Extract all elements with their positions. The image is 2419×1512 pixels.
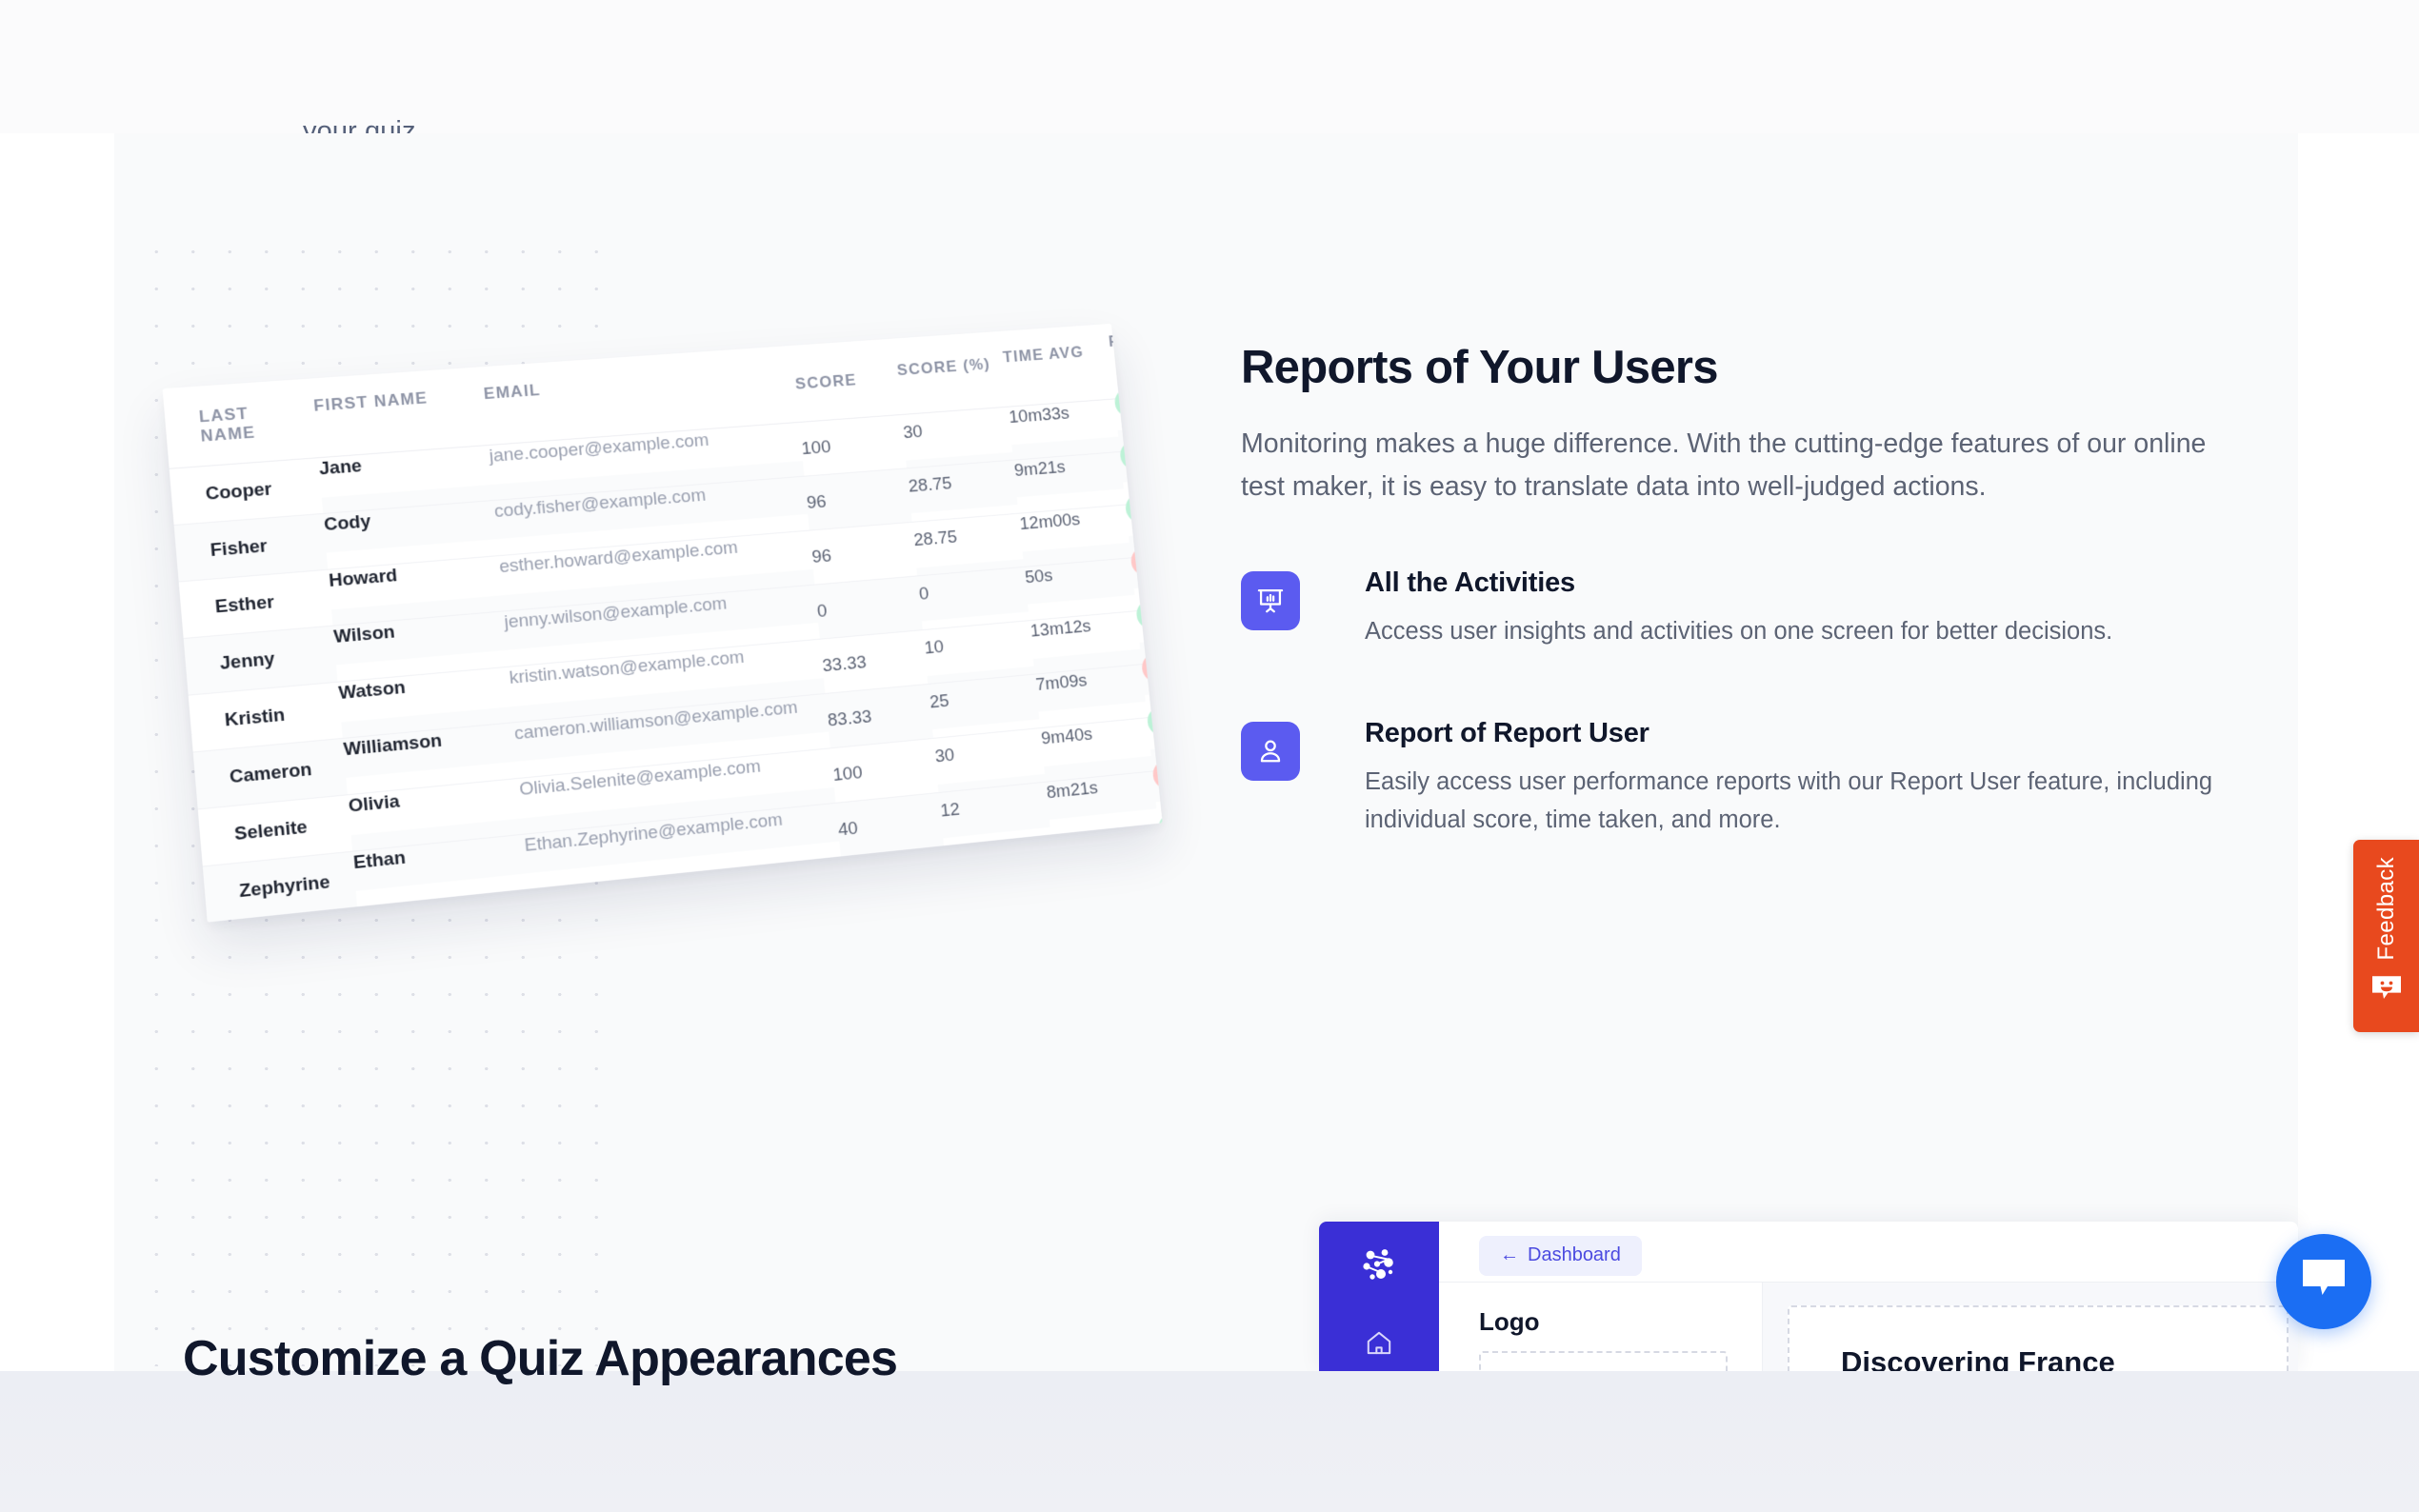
builder-canvas-pane: Discovering France (1763, 1283, 2298, 1371)
builder-sidebar: Quiz (1319, 1222, 1439, 1371)
feedback-tab-button[interactable]: Feedback (2353, 840, 2419, 1032)
cell-score: 100 (799, 414, 907, 476)
logo-field-label: Logo (1479, 1307, 1540, 1337)
feature-all-the-activities: All the Activities Access user insights … (1241, 567, 2250, 659)
cell-time-avg: 13m01s (1050, 809, 1162, 874)
cell-score-pct: 15 (949, 882, 1061, 923)
home-icon (1364, 1328, 1394, 1363)
presentation-chart-icon (1241, 571, 1300, 630)
cell-score: 83.33 (825, 684, 933, 747)
cell-score: 50 (847, 902, 955, 923)
cell-time-avg: 50s (1023, 542, 1135, 605)
next-section-band (0, 1371, 2419, 1512)
builder-main: ←Dashboard Logo Discovering France (1439, 1222, 2298, 1371)
cell-time-avg: 9m21s (1011, 436, 1124, 498)
page-root: your quiz. LAST NAME FIRST NAME EMAIL SC… (0, 0, 2419, 1512)
page-title: Reports of Your Users (1241, 341, 2250, 394)
cell-time-avg: 13m12s (1028, 595, 1140, 658)
feature-title: Report of Report User (1365, 718, 2250, 749)
report-table: LAST NAME FIRST NAME EMAIL SCORE SCORE (… (163, 324, 1163, 923)
cell-score-pct: 0 (916, 559, 1029, 622)
feature-report-of-report-user: Report of Report User Easily access user… (1241, 718, 2250, 839)
sidebar-item-quiz[interactable]: Quiz (1363, 1328, 1396, 1371)
chat-bubble-icon (2298, 1256, 2349, 1308)
builder-topbar: ←Dashboard (1439, 1222, 2298, 1283)
reports-copy-column: Reports of Your Users Monitoring makes a… (1241, 341, 2250, 839)
user-icon (1241, 722, 1300, 781)
back-to-dashboard-button[interactable]: ←Dashboard (1479, 1236, 1642, 1276)
logo-dropzone[interactable] (1479, 1351, 1728, 1371)
feature-description: Access user insights and activities on o… (1365, 613, 2250, 650)
status-badge: Passed (1119, 436, 1163, 470)
cell-score-pct: 28.75 (906, 451, 1017, 513)
report-table-illustration: LAST NAME FIRST NAME EMAIL SCORE SCORE (… (195, 352, 1157, 962)
cell-score: 33.33 (820, 630, 928, 694)
cell-score-pct: 28.75 (911, 506, 1024, 568)
section-paragraph: Monitoring makes a huge difference. With… (1241, 423, 2208, 508)
cell-score: 0 (814, 576, 922, 639)
cell-score-pct: 20 (943, 827, 1055, 893)
table-body: CooperJanejane.cooper@example.com1003010… (170, 390, 1163, 922)
builder-settings-pane: Logo (1439, 1283, 1763, 1371)
chat-bubble-button[interactable] (2276, 1234, 2371, 1329)
quiz-title-text: Discovering France (1841, 1345, 2115, 1371)
cell-score: 96 (804, 468, 911, 530)
cell-score: 96 (810, 522, 917, 585)
cell-score: 40 (835, 792, 944, 857)
cell-score: 66.66 (841, 847, 950, 913)
feature-description: Easily access user performance reports w… (1365, 764, 2250, 839)
cell-role: Passed (1112, 368, 1163, 429)
feature-title: All the Activities (1365, 567, 2250, 599)
feedback-label: Feedback (2373, 857, 2400, 961)
col-score: SCORE (791, 339, 901, 423)
cell-time-avg: 11m43s (1055, 863, 1163, 922)
report-table-card: LAST NAME FIRST NAME EMAIL SCORE SCORE (… (163, 324, 1163, 923)
network-dots-icon (1357, 1246, 1401, 1288)
status-badge: Passed (1125, 488, 1163, 524)
cell-time-avg: 10m33s (1007, 384, 1119, 445)
left-gutter (0, 133, 114, 1371)
cell-score-pct: 30 (901, 399, 1012, 461)
next-section-title: Customize a Quiz Appearances (183, 1330, 897, 1387)
quiz-builder-preview: Quiz ←Dashboard Logo Discovering France (1319, 1222, 2298, 1371)
col-last-name: LAST NAME (163, 378, 319, 468)
cell-role: Passed (1123, 474, 1162, 536)
cell-time-avg: 12m00s (1017, 489, 1130, 551)
back-button-label: Dashboard (1528, 1244, 1621, 1265)
arrow-left-icon: ← (1500, 1244, 1519, 1265)
cell-score-pct: 10 (922, 612, 1034, 676)
cell-role: Passed (1118, 421, 1163, 483)
col-score-pct: SCORE (%) (893, 325, 1008, 408)
previous-section-strip (0, 0, 2419, 133)
smiley-chat-icon (2370, 973, 2403, 1002)
right-gutter (2298, 133, 2419, 1371)
status-badge: Passed (1113, 384, 1162, 418)
cell-email: Noah.Galathion@example.com (532, 897, 850, 923)
quiz-canvas[interactable]: Discovering France (1788, 1305, 2289, 1371)
